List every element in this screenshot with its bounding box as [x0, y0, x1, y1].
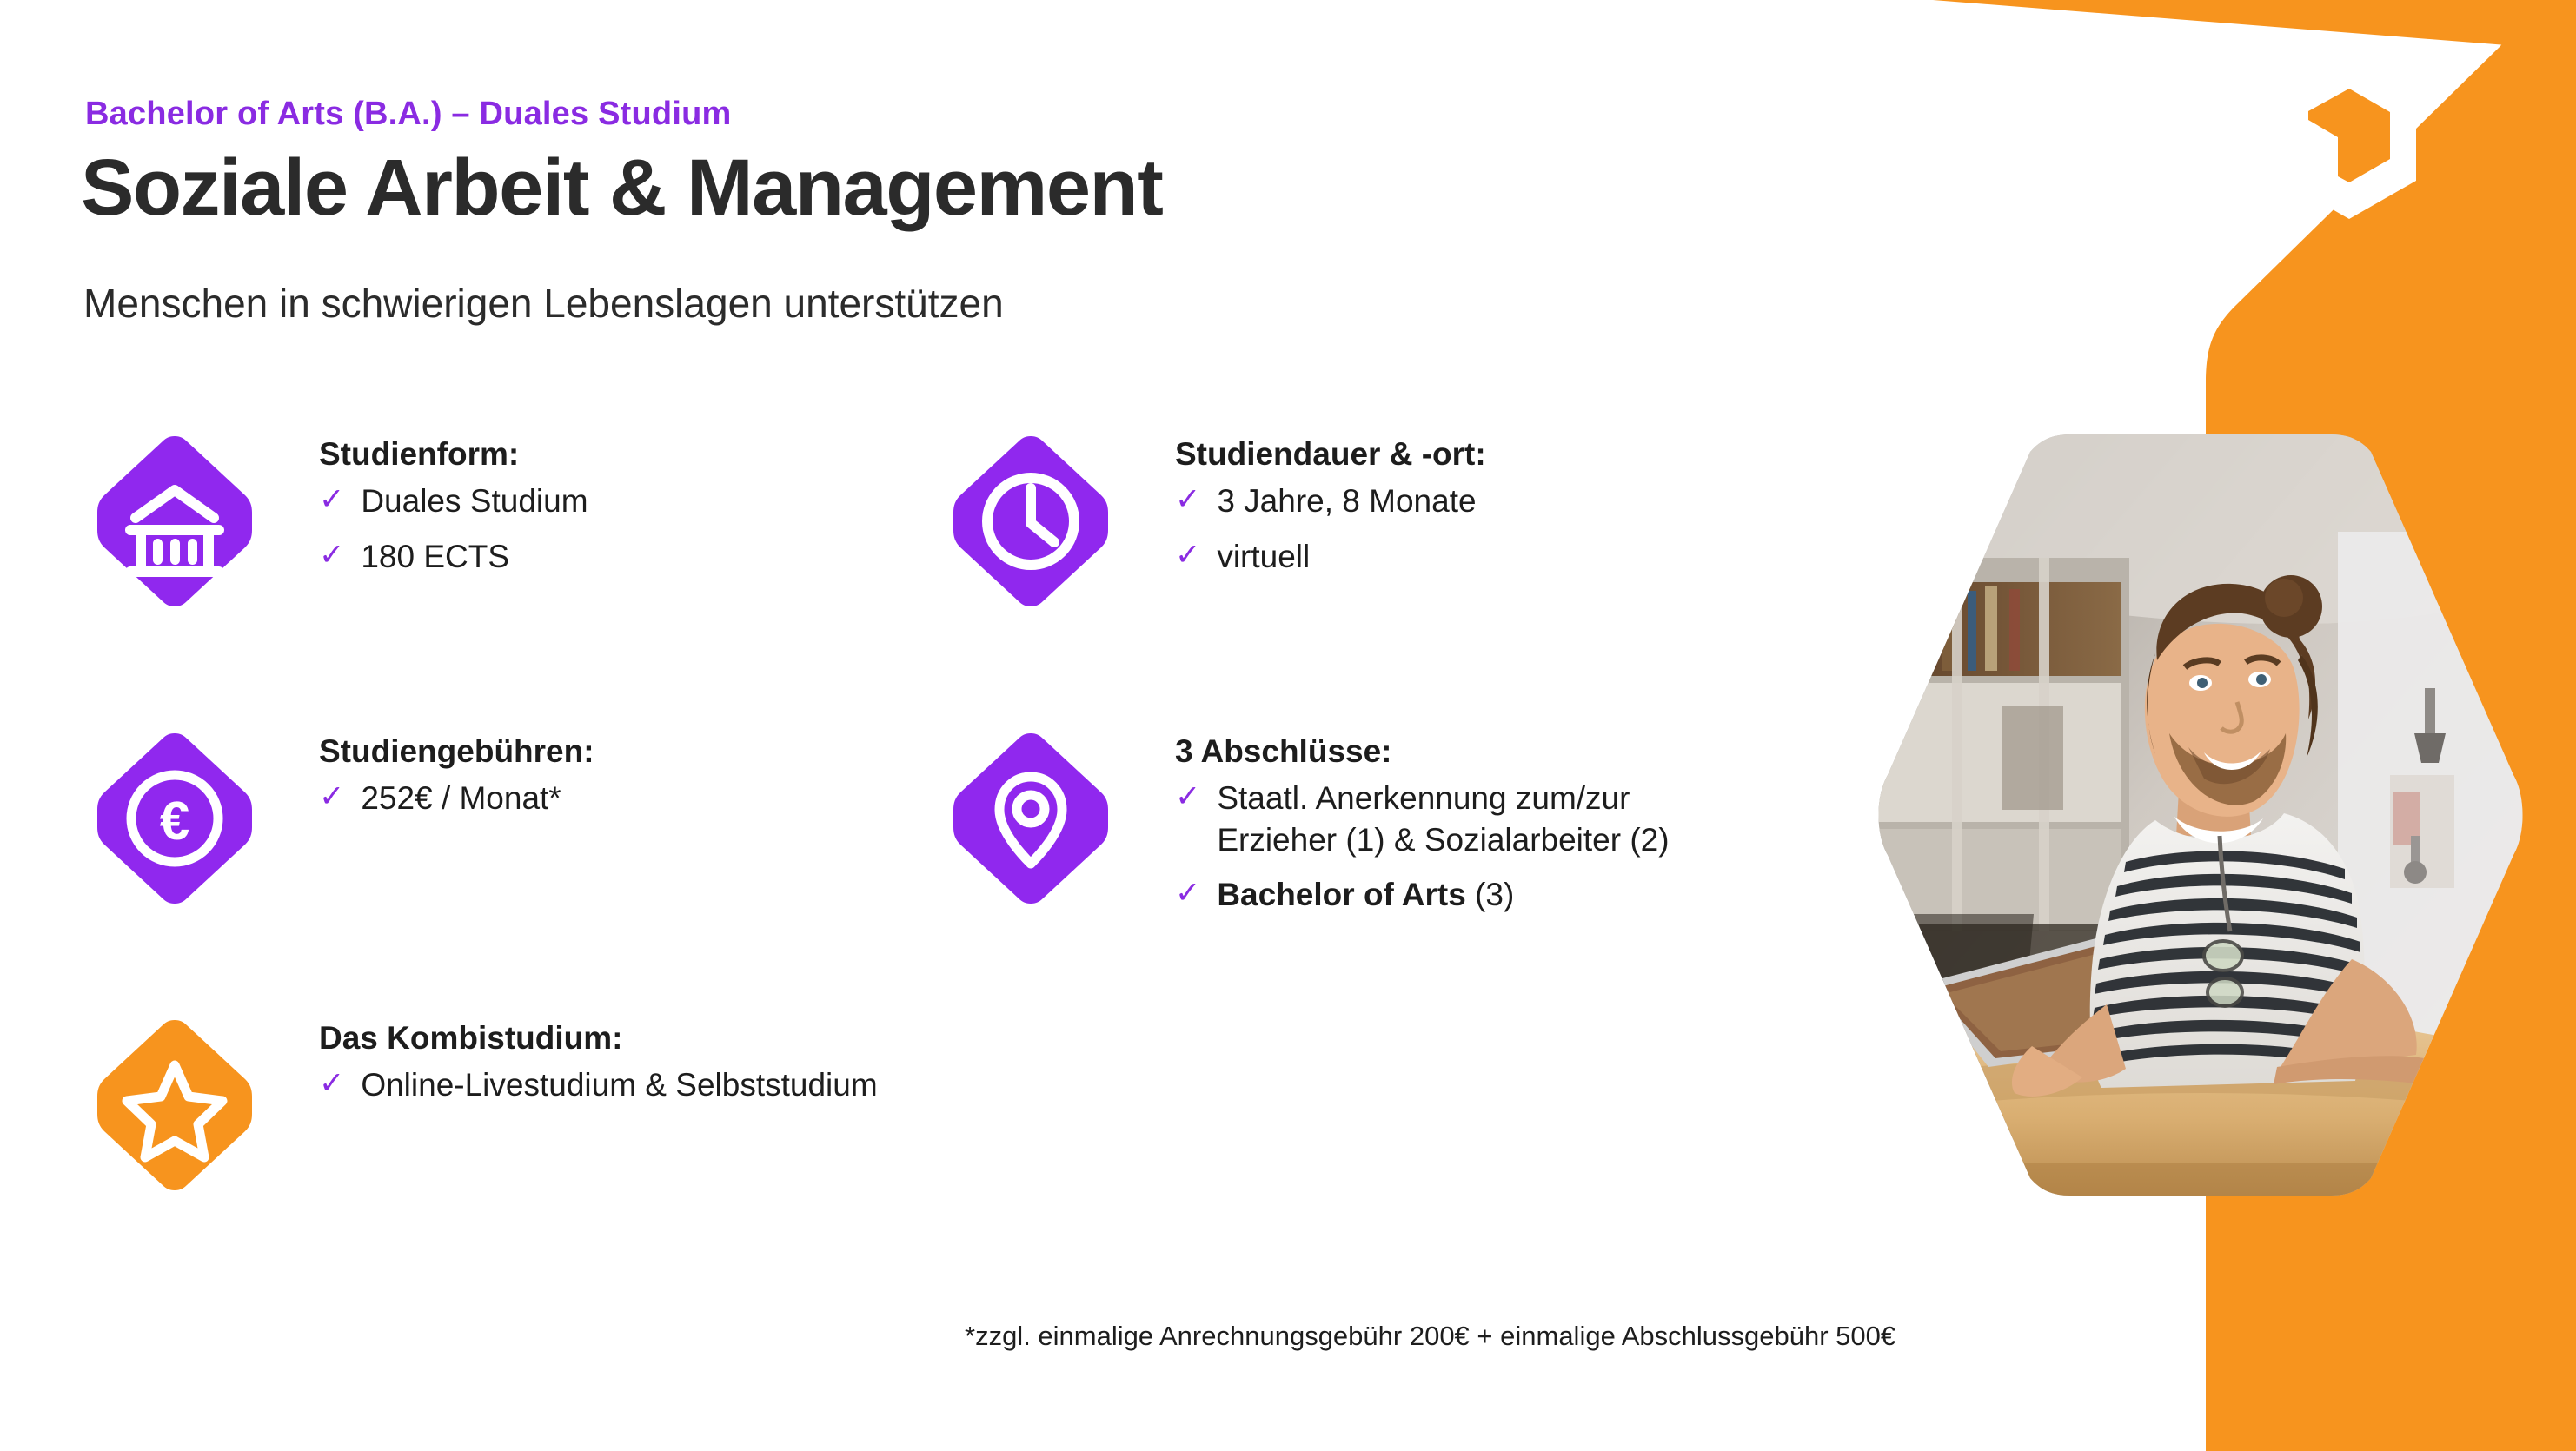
- page-subtitle: Menschen in schwierigen Lebenslagen unte…: [83, 280, 1004, 327]
- feature-bullet-list: ✓ 3 Jahre, 8 Monate ✓ virtuell: [1175, 480, 1486, 577]
- list-item: ✓ Duales Studium: [319, 480, 588, 521]
- feature-bullet-list: ✓ Duales Studium ✓ 180 ECTS: [319, 480, 588, 577]
- list-item: ✓ 3 Jahre, 8 Monate: [1175, 480, 1486, 521]
- check-icon: ✓: [1175, 536, 1200, 575]
- list-item: ✓ 180 ECTS: [319, 536, 588, 577]
- list-item-label: Bachelor of Arts (3): [1217, 874, 1669, 915]
- check-icon: ✓: [1175, 874, 1200, 913]
- list-item-label: virtuell: [1217, 536, 1485, 577]
- slide-canvas: Bachelor of Arts (B.A.) – Duales Studium…: [0, 0, 2576, 1451]
- list-item-emphasis: Bachelor of Arts: [1217, 877, 1465, 912]
- star-icon: [96, 1018, 254, 1192]
- bank-icon: [96, 434, 254, 608]
- euro-coin-icon: €: [96, 732, 254, 905]
- list-item-label: 252€ / Monat*: [361, 778, 594, 818]
- feature-body: Das Kombistudium: ✓ Online-Livestudium &…: [319, 1018, 878, 1120]
- list-item-label: 180 ECTS: [361, 536, 588, 577]
- check-icon: ✓: [319, 536, 344, 575]
- check-icon: ✓: [319, 778, 344, 817]
- check-icon: ✓: [319, 480, 344, 520]
- list-item: ✓ Online-Livestudium & Selbststudium: [319, 1064, 878, 1105]
- feature-body: Studienform: ✓ Duales Studium ✓ 180 ECTS: [319, 434, 588, 591]
- list-item-suffix: (3): [1466, 877, 1515, 912]
- feature-bullet-list: ✓ Online-Livestudium & Selbststudium: [319, 1064, 878, 1105]
- svg-text:€: €: [160, 792, 189, 851]
- feature-heading: Studiengebühren:: [319, 732, 594, 772]
- list-item-label: Duales Studium: [361, 480, 588, 521]
- list-item: ✓ Staatl. Anerkennung zum/zur Erzieher (…: [1175, 778, 1670, 860]
- eyebrow-label: Bachelor of Arts (B.A.) – Duales Studium: [85, 96, 731, 133]
- feature-heading: Das Kombistudium:: [319, 1018, 878, 1058]
- iu-cube-logo: [2270, 54, 2428, 224]
- list-item-label: Online-Livestudium & Selbststudium: [361, 1064, 877, 1105]
- list-item: ✓ virtuell: [1175, 536, 1486, 577]
- location-pin-icon: [952, 732, 1110, 905]
- check-icon: ✓: [1175, 480, 1200, 520]
- feature-heading: 3 Abschlüsse:: [1175, 732, 1670, 772]
- check-icon: ✓: [319, 1064, 344, 1103]
- feature-body: Studiendauer & -ort: ✓ 3 Jahre, 8 Monate…: [1175, 434, 1486, 591]
- feature-bullet-list: ✓ 252€ / Monat*: [319, 778, 594, 818]
- list-item: ✓ 252€ / Monat*: [319, 778, 594, 818]
- feature-heading: Studienform:: [319, 434, 588, 474]
- check-icon: ✓: [1175, 778, 1200, 817]
- footnote-text: *zzgl. einmalige Anrechnungsgebühr 200€ …: [965, 1321, 1895, 1352]
- list-item: ✓ Bachelor of Arts (3): [1175, 874, 1670, 915]
- list-item-label: Staatl. Anerkennung zum/zur Erzieher (1)…: [1217, 778, 1669, 860]
- feature-body: Studiengebühren: ✓ 252€ / Monat*: [319, 732, 594, 833]
- feature-bullet-list: ✓ Staatl. Anerkennung zum/zur Erzieher (…: [1175, 778, 1670, 915]
- page-title: Soziale Arbeit & Management: [81, 146, 1162, 230]
- clock-icon: [952, 434, 1110, 608]
- feature-body: 3 Abschlüsse: ✓ Staatl. Anerkennung zum/…: [1175, 732, 1670, 929]
- list-item-label: 3 Jahre, 8 Monate: [1217, 480, 1485, 521]
- feature-heading: Studiendauer & -ort:: [1175, 434, 1486, 474]
- student-with-tablet-photo: [1869, 427, 2533, 1203]
